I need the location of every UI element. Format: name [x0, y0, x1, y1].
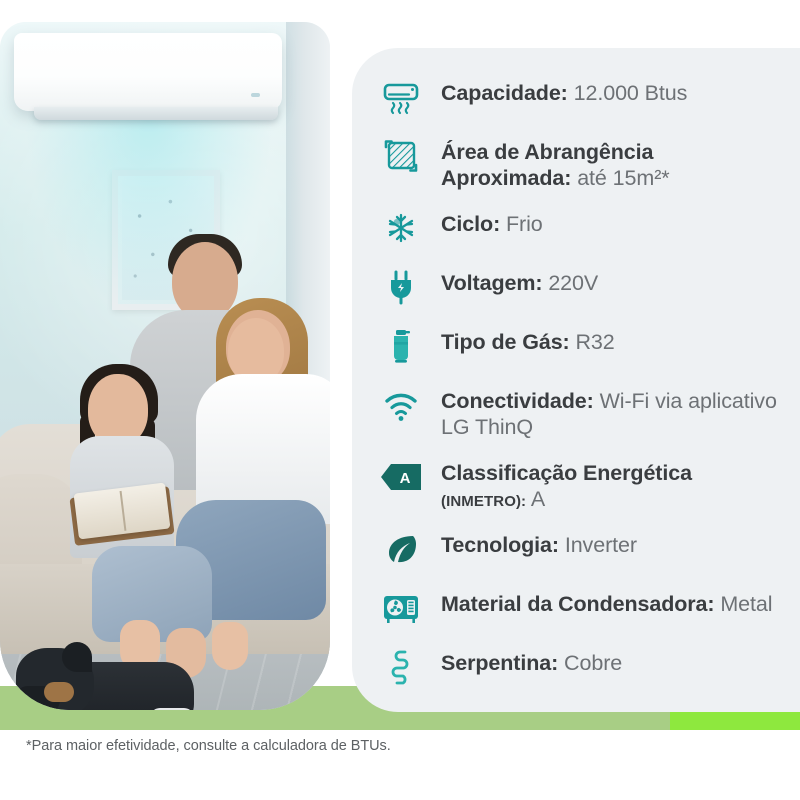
spec-row-classificacao-energetica: A Classificação Energética (INMETRO): A: [378, 454, 782, 513]
spec-text-classificacao-energetica: Classificação Energética (INMETRO): A: [441, 454, 692, 513]
specifications-card: Capacidade: 12.000 Btus Área de Abrangên…: [352, 48, 800, 712]
coil-icon: [378, 644, 424, 690]
spec-text-serpentina: Serpentina: Cobre: [441, 644, 622, 677]
spec-value-serpentina: Cobre: [564, 651, 622, 675]
svg-text:A: A: [400, 470, 411, 487]
spec-text-tecnologia: Tecnologia: Inverter: [441, 526, 637, 559]
spec-value-material-condensadora: Metal: [720, 592, 772, 616]
dog-paw: [150, 708, 194, 710]
spec-label-inmetro: (INMETRO):: [441, 493, 526, 510]
spec-value-tipo-gas: R32: [576, 330, 615, 354]
area-coverage-icon: [378, 133, 424, 179]
spec-text-capacidade: Capacidade: 12.000 Btus: [441, 74, 687, 107]
spec-row-voltagem: Voltagem: 220V: [378, 264, 782, 310]
spec-text-area-abrangencia: Área de Abrangência Aproximada: até 15m²…: [441, 133, 670, 192]
spec-label-capacidade: Capacidade:: [441, 81, 568, 105]
gas-cylinder-icon: [378, 323, 424, 369]
spec-value-tecnologia: Inverter: [565, 533, 637, 557]
footnote-btu-calculator: *Para maior efetividade, consulte a calc…: [26, 738, 391, 754]
air-conditioner-vent: [34, 107, 278, 120]
bare-foot-3: [212, 622, 248, 670]
spec-value-capacidade: 12.000 Btus: [574, 81, 688, 105]
spec-row-area-abrangencia: Área de Abrangência Aproximada: até 15m²…: [378, 133, 782, 192]
spec-label-material-condensadora: Material da Condensadora:: [441, 592, 714, 616]
spec-label-tipo-gas: Tipo de Gás:: [441, 330, 570, 354]
spec-label-voltagem: Voltagem:: [441, 271, 542, 295]
energy-label-a-icon: A: [378, 454, 424, 500]
wifi-icon: [378, 382, 424, 428]
spec-text-ciclo: Ciclo: Frio: [441, 205, 543, 238]
spec-label-area-line2: Aproximada:: [441, 166, 571, 190]
spec-row-capacidade: Capacidade: 12.000 Btus: [378, 74, 782, 120]
power-plug-icon: [378, 264, 424, 310]
spec-row-conectividade: Conectividade: Wi-Fi via aplicativo LG T…: [378, 382, 782, 441]
spec-label-serpentina: Serpentina:: [441, 651, 558, 675]
spec-value-area: até 15m²*: [577, 166, 669, 190]
spec-text-voltagem: Voltagem: 220V: [441, 264, 598, 297]
spec-label-conectividade: Conectividade:: [441, 389, 594, 413]
spec-text-tipo-gas: Tipo de Gás: R32: [441, 323, 615, 356]
product-lifestyle-photo: [0, 22, 330, 710]
split-air-conditioner-unit: [14, 33, 282, 111]
spec-row-material-condensadora: Material da Condensadora: Metal: [378, 585, 782, 631]
snowflake-icon: [378, 205, 424, 251]
spec-label-tecnologia: Tecnologia:: [441, 533, 559, 557]
dog-tan-marking: [44, 682, 74, 702]
spec-label-ciclo: Ciclo:: [441, 212, 500, 236]
spec-value-voltagem: 220V: [548, 271, 598, 295]
air-conditioner-icon: [378, 74, 424, 120]
spec-text-conectividade: Conectividade: Wi-Fi via aplicativo LG T…: [441, 382, 782, 441]
spec-text-material-condensadora: Material da Condensadora: Metal: [441, 585, 772, 618]
condenser-unit-icon: [378, 585, 424, 631]
spec-value-ciclo: Frio: [506, 212, 543, 236]
dog-ear: [62, 642, 92, 672]
spec-row-ciclo: Ciclo: Frio: [378, 205, 782, 251]
spec-row-serpentina: Serpentina: Cobre: [378, 644, 782, 690]
leaf-icon: [378, 526, 424, 572]
father-head: [172, 242, 238, 320]
spec-row-tipo-gas: Tipo de Gás: R32: [378, 323, 782, 369]
air-conditioner-led: [251, 93, 260, 97]
spec-value-classificacao: A: [531, 487, 545, 511]
spec-label-area-line1: Área de Abrangência: [441, 140, 653, 164]
spec-label-classificacao: Classificação Energética: [441, 461, 692, 485]
spec-row-tecnologia: Tecnologia: Inverter: [378, 526, 782, 572]
